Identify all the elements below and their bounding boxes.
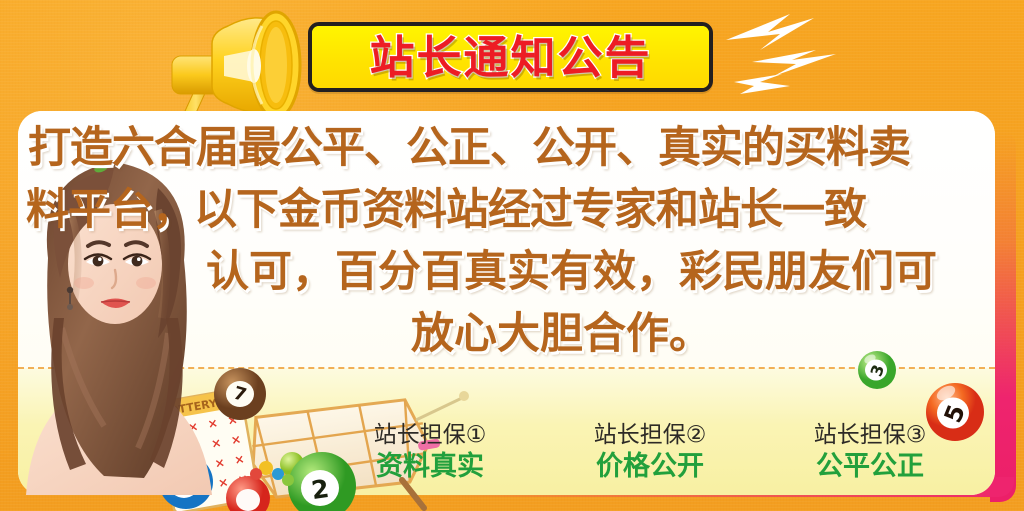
guarantee-item-1: 站长担保① 资料真实 — [320, 420, 540, 484]
guarantee-title-1: 站长担保① — [320, 420, 540, 450]
guarantee-subtitle-2: 价格公开 — [540, 450, 760, 484]
guarantee-title-2: 站长担保② — [540, 420, 760, 450]
announcement-banner: 站长通知公告 打造六合届最公平、公正、公开、真实的买料卖 料平台，以下金币资料站… — [0, 0, 1024, 511]
guarantee-subtitle-1: 资料真实 — [320, 450, 540, 484]
megaphone-icon — [150, 4, 330, 126]
page-title: 站长通知公告 — [369, 35, 651, 80]
lightning-bolt-icon — [724, 6, 844, 102]
guarantee-item-2: 站长担保② 价格公开 — [540, 420, 760, 484]
guarantee-title-3: 站长担保③ — [760, 420, 980, 450]
title-banner: 站长通知公告 — [308, 22, 713, 92]
guarantee-list: 站长担保① 资料真实 站长担保② 价格公开 站长担保③ 公平公正 — [320, 420, 980, 484]
guarantee-item-3: 站长担保③ 公平公正 — [760, 420, 980, 484]
guarantee-subtitle-3: 公平公正 — [760, 450, 980, 484]
woman-portrait-photo — [8, 118, 223, 495]
lottery-ball-green: 3 — [857, 350, 897, 390]
